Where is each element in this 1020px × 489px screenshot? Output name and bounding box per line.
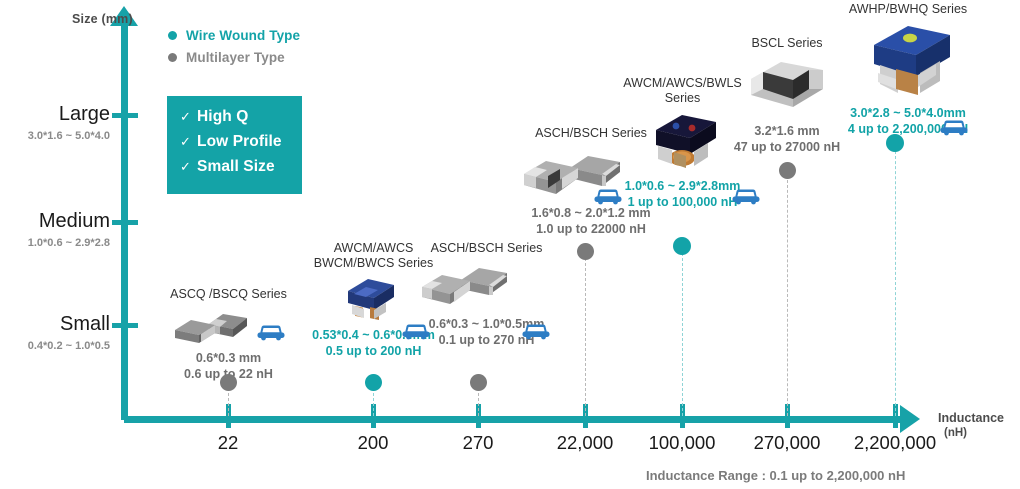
data-point-wirewound-100000: [673, 237, 691, 255]
feature-item-1: ✓ Low Profile: [167, 129, 302, 154]
automotive-car-icon: [939, 117, 969, 141]
data-point-multilayer-270: [470, 374, 487, 391]
automotive-car-icon: [731, 186, 761, 210]
feature-label-1: Low Profile: [197, 133, 282, 151]
data-point-multilayer-22: [220, 374, 237, 391]
y-category-large: Large 3.0*1.6 ~ 5.0*4.0: [0, 103, 110, 144]
connector-line: [373, 388, 374, 416]
connector-line: [787, 180, 788, 416]
x-tick-label-0: 22: [158, 432, 298, 454]
connector-line: [228, 388, 229, 416]
x-axis-arrow: [900, 405, 920, 433]
data-point-wirewound-2200000: [886, 134, 904, 152]
y-tick-medium: [112, 220, 138, 225]
y-axis-line: [121, 18, 128, 420]
legend-dot-wire-wound-icon: [168, 31, 177, 40]
legend-item-multilayer: Multilayer Type: [168, 48, 300, 67]
legend: Wire Wound Type Multilayer Type: [168, 26, 300, 70]
series-range: 47 up to 27000 nH: [712, 139, 862, 155]
connector-line: [585, 258, 586, 416]
check-icon: ✓: [180, 110, 197, 123]
y-category-medium: Medium 1.0*0.6 ~ 2.9*2.8: [0, 210, 110, 251]
x-axis-line: [124, 416, 908, 423]
x-tick-label-6: 2,200,000: [825, 432, 965, 454]
series-range: 4 up to 2,200,000 nH: [818, 121, 998, 137]
connector-line: [895, 151, 896, 416]
series-title: ASCH/BSCH Series: [404, 241, 569, 256]
automotive-car-icon: [521, 321, 551, 345]
connector-line: [682, 253, 683, 416]
legend-dot-multilayer-icon: [168, 53, 177, 62]
inductor-photo-icon: [404, 264, 569, 314]
connector-line: [478, 388, 479, 416]
legend-label-multilayer: Multilayer Type: [186, 50, 285, 65]
feature-label-0: High Q: [197, 108, 248, 126]
series-range: 1.0 up to 22000 nH: [506, 221, 676, 237]
check-icon: ✓: [180, 160, 197, 173]
inductor-photo-icon: [818, 21, 998, 103]
automotive-car-icon: [256, 322, 286, 346]
series-title: AWHP/BWHQ Series: [818, 2, 998, 17]
y-category-small: Small 0.4*0.2 ~ 1.0*0.5: [0, 313, 110, 354]
data-point-multilayer-270000: [779, 162, 796, 179]
y-category-medium-range: 1.0*0.6 ~ 2.9*2.8: [0, 235, 110, 251]
feature-item-2: ✓ Small Size: [167, 154, 302, 179]
legend-label-wire-wound: Wire Wound Type: [186, 28, 300, 43]
y-category-medium-label: Medium: [0, 210, 110, 232]
y-category-small-label: Small: [0, 313, 110, 335]
feature-item-0: ✓ High Q: [167, 104, 302, 129]
legend-item-wire-wound: Wire Wound Type: [168, 26, 300, 45]
y-category-large-label: Large: [0, 103, 110, 125]
data-point-multilayer-22000: [577, 243, 594, 260]
data-point-wirewound-200: [365, 374, 382, 391]
y-category-large-range: 3.0*1.6 ~ 5.0*4.0: [0, 128, 110, 144]
y-tick-small: [112, 323, 138, 328]
y-tick-large: [112, 113, 138, 118]
y-category-small-range: 0.4*0.2 ~ 1.0*0.5: [0, 338, 110, 354]
x-axis-title-text: Inductance: [938, 411, 1004, 425]
series-group-awhp-bwhq: AWHP/BWHQ Series 3.0*2.8 ~ 5.0*4.0mm 4 u…: [818, 2, 998, 137]
series-title: ASCQ /BSCQ Series: [151, 287, 306, 302]
feature-label-2: Small Size: [197, 158, 275, 176]
feature-highlight-box: ✓ High Q ✓ Low Profile ✓ Small Size: [167, 96, 302, 194]
series-size: 0.6*0.3 mm: [151, 350, 306, 366]
y-axis-title: Size (mm): [72, 12, 133, 26]
check-icon: ✓: [180, 135, 197, 148]
inductance-range-note: Inductance Range : 0.1 up to 2,200,000 n…: [646, 468, 905, 483]
series-size: 3.0*2.8 ~ 5.0*4.0mm: [818, 105, 998, 121]
